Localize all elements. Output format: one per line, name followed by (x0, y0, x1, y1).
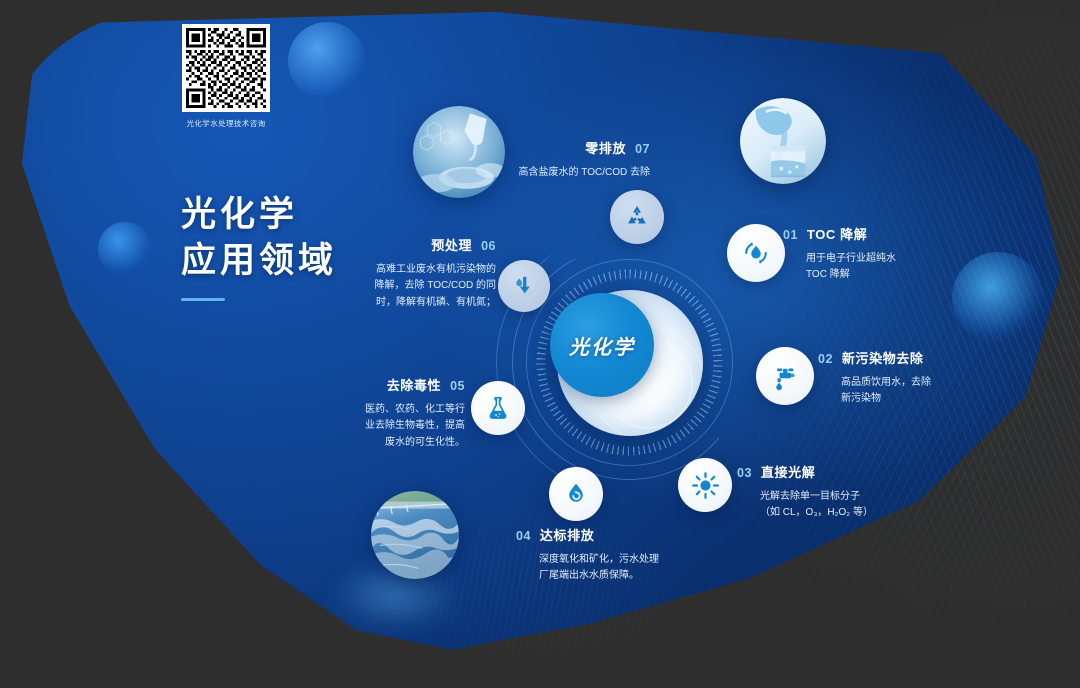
water-drop-recycle-icon[interactable] (549, 467, 603, 521)
qr-caption: 光化学水处理技术咨询 (176, 118, 276, 129)
title-line-2: 应用领域 (181, 238, 337, 284)
item-02-heading: 02 新污染物去除 (818, 352, 998, 366)
item-01-desc: 用于电子行业超纯水 TOC 降解 (783, 251, 963, 284)
item-03: 03 直接光解 光解去除单一目标分子 （如 CL，O₃，H₂O₂ 等） (737, 466, 927, 522)
down-arrow-drop-icon[interactable] (498, 260, 550, 312)
poster-canvas: 光化学水处理技术咨询 光化学 应用领域 光化学 (0, 0, 1080, 688)
faucet-icon[interactable] (756, 347, 814, 405)
item-01-number: 01 (783, 229, 798, 242)
recycle-icon[interactable] (610, 190, 664, 244)
center-core-badge[interactable]: 光化学 (550, 293, 654, 397)
item-04-heading: 04 达标排放 (516, 529, 716, 543)
item-03-desc: 光解去除单一目标分子 （如 CL，O₃，H₂O₂ 等） (737, 489, 927, 522)
item-04: 04 达标排放 深度氧化和矿化，污水处理 厂尾端出水水质保障。 (516, 529, 716, 585)
title-underline (181, 298, 225, 301)
item-07-desc: 高含盐废水的 TOC/COD 去除 (470, 165, 650, 182)
item-05-heading: 去除毒性 05 (323, 379, 465, 393)
flask-icon[interactable] (471, 381, 525, 435)
item-07-number: 07 (635, 143, 650, 156)
item-05-desc: 医药、农药、化工等行 业去除生物毒性，提高 废水的可生化性。 (323, 402, 465, 452)
item-02-desc: 高品质饮用水，去除 新污染物 (818, 375, 998, 408)
item-01: 01 TOC 降解 用于电子行业超纯水 TOC 降解 (783, 228, 963, 284)
item-04-desc: 深度氧化和矿化，污水处理 厂尾端出水水质保障。 (516, 552, 716, 585)
item-02-title: 新污染物去除 (842, 352, 924, 365)
item-05-title: 去除毒性 (387, 379, 441, 392)
page-title: 光化学 应用领域 (181, 192, 337, 301)
item-03-number: 03 (737, 467, 752, 480)
title-line-1: 光化学 (181, 192, 337, 238)
item-01-title: TOC 降解 (807, 228, 867, 241)
item-06-heading: 预处理 06 (328, 239, 496, 253)
item-05-number: 05 (450, 380, 465, 393)
item-01-heading: 01 TOC 降解 (783, 228, 963, 242)
item-06-desc: 高难工业废水有机污染物的 降解，去除 TOC/COD 的同 时，降解有机磷、有机… (328, 262, 496, 312)
item-06: 预处理 06 高难工业废水有机污染物的 降解，去除 TOC/COD 的同 时，降… (328, 239, 496, 311)
pouring-water-photo (740, 98, 826, 184)
water-drop-cycle-icon[interactable] (727, 224, 785, 282)
qr-code-image[interactable] (182, 24, 270, 112)
center-core-label: 光化学 (569, 331, 635, 360)
qr-block: 光化学水处理技术咨询 (176, 24, 276, 129)
item-07: 零排放 07 高含盐废水的 TOC/COD 去除 (470, 142, 650, 181)
item-06-title: 预处理 (431, 239, 472, 252)
sun-icon[interactable] (678, 458, 732, 512)
item-07-heading: 零排放 07 (470, 142, 650, 156)
water-treatment-plant-photo (371, 491, 459, 579)
item-02: 02 新污染物去除 高品质饮用水，去除 新污染物 (818, 352, 998, 408)
item-05: 去除毒性 05 医药、农药、化工等行 业去除生物毒性，提高 废水的可生化性。 (323, 379, 465, 451)
item-02-number: 02 (818, 353, 833, 366)
item-03-title: 直接光解 (761, 466, 815, 479)
item-06-number: 06 (481, 240, 496, 253)
item-04-title: 达标排放 (540, 529, 594, 542)
item-03-heading: 03 直接光解 (737, 466, 927, 480)
item-04-number: 04 (516, 530, 531, 543)
item-07-title: 零排放 (585, 142, 626, 155)
